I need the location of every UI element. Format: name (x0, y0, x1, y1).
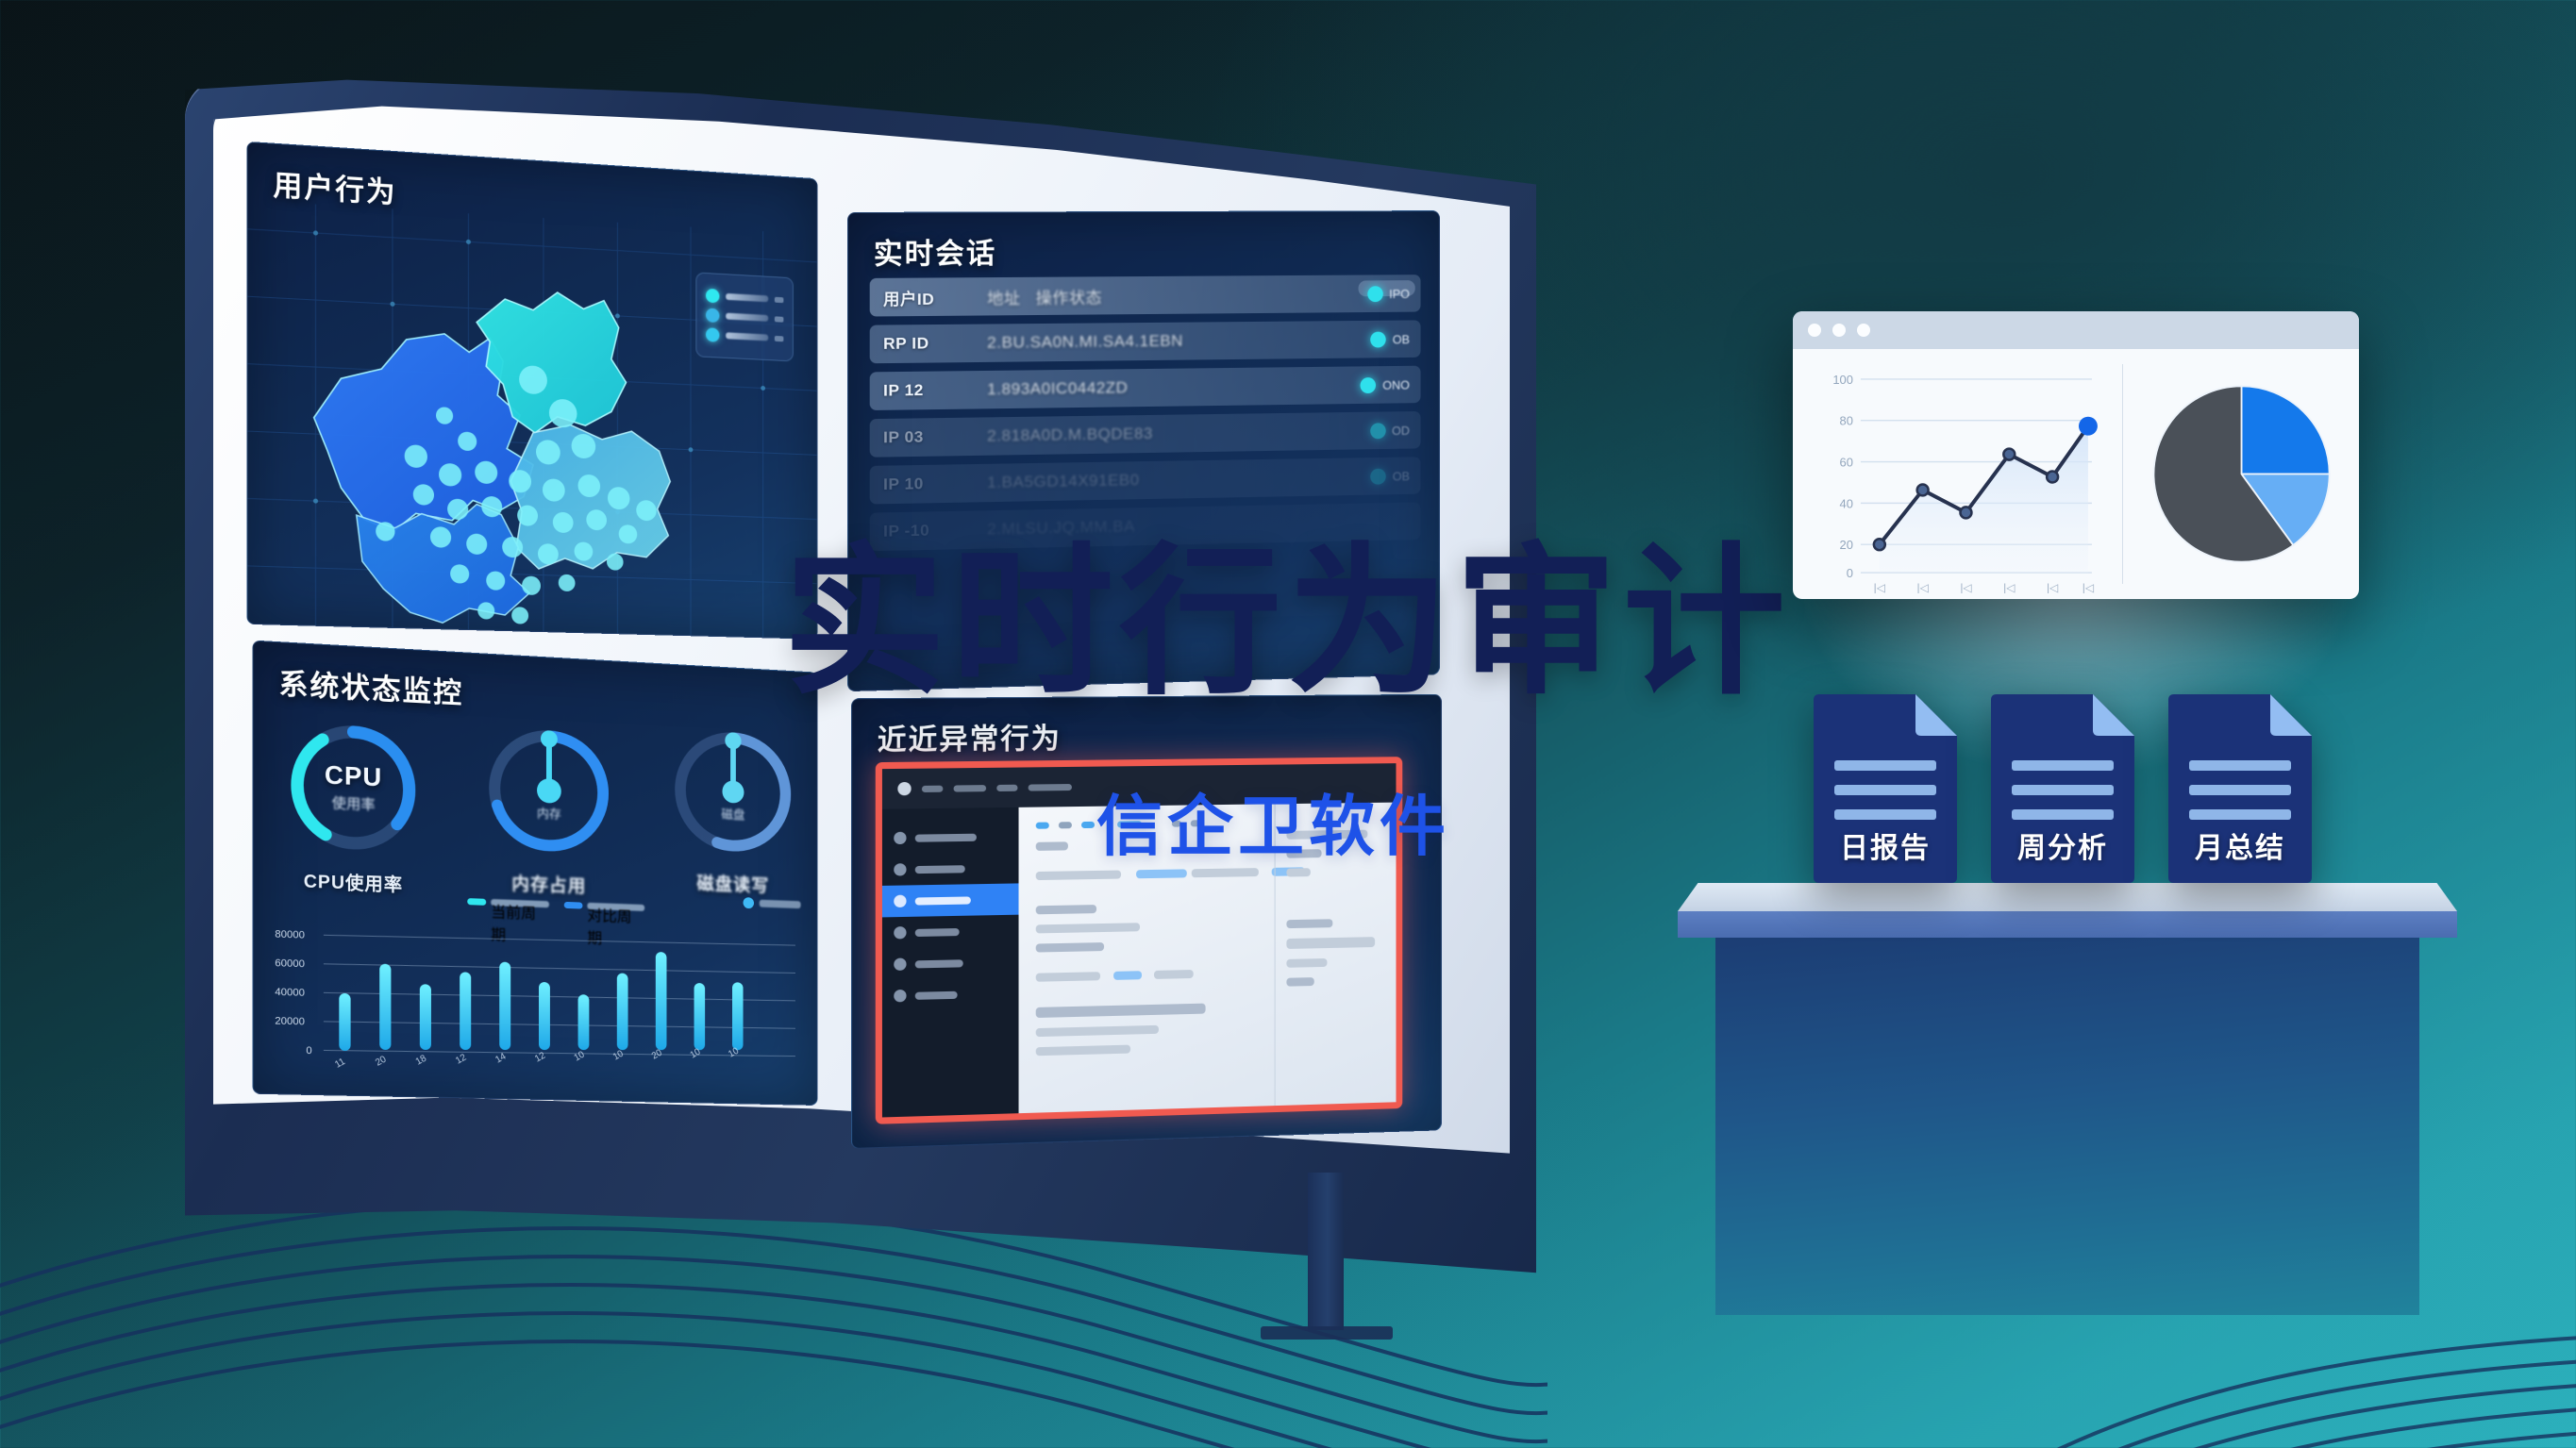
legend-swatch-icon (706, 327, 719, 342)
mock-skeleton-line (1036, 942, 1104, 953)
cell-user-id: IP 12 (883, 380, 972, 400)
mock-sidebar-item[interactable] (882, 977, 1019, 1012)
mock-sidebar-icon (894, 926, 906, 939)
report-card-monthly[interactable]: 月总结 (2168, 694, 2312, 883)
window-minimize-icon[interactable] (1832, 324, 1846, 337)
y-tick-label: 0 (306, 1045, 311, 1057)
traffic-bar-chart[interactable]: 80000 60000 40000 20000 0 (271, 925, 800, 1091)
table-row[interactable]: IP 10 1.BA5GD14X91EB0 OB (870, 457, 1421, 504)
legend-item[interactable] (706, 327, 783, 345)
legend-item[interactable] (706, 308, 783, 326)
x-tick-label: 10 (611, 1048, 626, 1062)
mock-sidebar-label (915, 865, 965, 874)
panel-anomaly-behavior[interactable]: 近近异常行为 (851, 694, 1442, 1149)
gauge-disk-inner-label: 磁盘 (721, 804, 744, 823)
legend-label (726, 332, 768, 341)
legend-label: 当前周期 (491, 899, 549, 907)
window-body: 100 80 60 40 20 0 |◁ (1793, 349, 2359, 599)
mock-titlebar-item (996, 784, 1017, 791)
mock-toolbar-item (1036, 823, 1049, 829)
legend-label (726, 313, 768, 322)
legend-label: 对比周期 (587, 903, 644, 911)
gauge-cpu-caption: CPU使用率 (283, 866, 424, 897)
mock-sidebar-icon (894, 957, 906, 970)
mock-skeleton-line (1286, 868, 1310, 876)
x-tick-label: |◁ (2003, 581, 2016, 593)
mock-skeleton-line (1036, 905, 1096, 914)
mock-skeleton-line (1036, 1025, 1159, 1037)
y-tick-label: 40 (1840, 496, 1853, 510)
window-close-icon[interactable] (1808, 324, 1821, 337)
legend-swatch-icon (706, 308, 719, 324)
legend-swatch-icon (706, 289, 719, 304)
gauge-memory-inner-label: 内存 (537, 803, 561, 822)
desk-pedestal (1715, 938, 2419, 1315)
panel-user-behavior[interactable]: 用户行为 (246, 141, 817, 640)
line-chart-last-point (2079, 417, 2098, 436)
mock-sidebar-icon (894, 990, 906, 1002)
legend-cap-icon (775, 296, 784, 302)
status-label: ONO (1382, 377, 1410, 391)
mock-skeleton-line (1036, 972, 1100, 982)
report-label: 周分析 (1991, 824, 2134, 866)
status-badge: IPO (1367, 286, 1410, 302)
status-label: OB (1393, 332, 1410, 346)
cell-address: 2.818A0D.M.BQDE83 (987, 424, 1153, 446)
pie-slice-primary (2241, 386, 2329, 474)
window-titlebar[interactable] (1793, 311, 2359, 349)
table-row[interactable]: RP ID 2.BU.SA0N.MI.SA4.1EBN OB (870, 320, 1421, 363)
mock-sidebar-item[interactable] (882, 946, 1019, 980)
mock-sidebar-icon (894, 895, 906, 907)
page-title: 实时行为审计 (783, 541, 1821, 704)
mock-sidebar-label (915, 959, 963, 968)
report-label: 月总结 (2168, 824, 2312, 866)
status-dot-icon (1370, 331, 1386, 347)
gauge-disk-caption: 磁盘读写 (666, 868, 798, 898)
gauge-cpu-inner-label: 使用率 (332, 792, 376, 814)
legend-swatch-icon (744, 897, 754, 908)
mock-skeleton-line (1286, 919, 1332, 928)
cell-address: 1.BA5GD14X91EB0 (987, 471, 1139, 492)
mock-sidebar-item-active[interactable] (882, 883, 1019, 917)
status-dot-icon (1361, 377, 1377, 393)
x-tick-label: 10 (573, 1049, 587, 1063)
page-subtitle: 信企卫软件 (1096, 774, 1450, 869)
status-dot-icon (1367, 286, 1383, 302)
legend-label (726, 293, 768, 302)
legend-item[interactable] (706, 289, 783, 307)
bar-series (339, 941, 743, 1060)
cell-address: 1.893A0IC0442ZD (987, 378, 1128, 399)
mock-skeleton-line (1036, 1045, 1130, 1057)
mock-skeleton-line (1154, 970, 1194, 979)
mock-sidebar-label (915, 927, 960, 936)
gauge-memory-caption: 内存占用 (480, 868, 617, 899)
mock-window-dot-icon (897, 782, 911, 795)
panel-title-user-behavior: 用户行为 (273, 161, 396, 211)
x-tick-label: 12 (454, 1052, 468, 1066)
gauge-cpu-name: CPU (325, 760, 382, 792)
mock-titlebar-item (922, 785, 943, 791)
legend-swatch-icon (564, 902, 583, 909)
report-card-daily[interactable]: 日报告 (1814, 694, 1957, 883)
status-label: OB (1393, 469, 1410, 483)
panel-title-anomaly: 近近异常行为 (878, 715, 1062, 758)
barchart-extra-legend[interactable] (744, 897, 801, 910)
mock-sidebar-icon (894, 832, 906, 844)
panel-system-status[interactable]: 系统状态监控 CPU 使用率 CPU使用率 (252, 641, 817, 1106)
gauge-disk-labels: 磁盘 (666, 721, 798, 862)
mock-skeleton-line (1192, 868, 1259, 877)
gauge-memory-labels: 内存 (480, 719, 617, 863)
report-label: 日报告 (1814, 824, 1957, 866)
mock-toolbar-item (1081, 822, 1095, 828)
table-row[interactable]: IP 03 2.818A0D.M.BQDE83 OD (870, 411, 1421, 458)
column-header-action: 操作状态 (1036, 284, 1102, 308)
x-tick-label: |◁ (1917, 581, 1930, 593)
mock-sidebar-item[interactable] (882, 915, 1019, 949)
mock-skeleton-line (1036, 1004, 1206, 1018)
mock-sidebar-label (915, 896, 971, 905)
y-tick-label: 80000 (275, 929, 305, 941)
mock-sidebar-item[interactable] (882, 852, 1019, 886)
y-tick-label: 20000 (275, 1015, 305, 1027)
mock-sidebar[interactable] (882, 807, 1019, 1118)
x-tick-label: |◁ (1960, 581, 1972, 593)
trend-line-chart[interactable]: 100 80 60 40 20 0 |◁ (1798, 358, 2118, 593)
mock-sidebar-label (915, 833, 977, 841)
mock-skeleton-line (1036, 923, 1140, 933)
window-maximize-icon[interactable] (1857, 324, 1870, 337)
mock-skeleton-line (1286, 958, 1327, 968)
status-badge: ONO (1361, 376, 1410, 392)
map-legend[interactable] (695, 272, 793, 361)
table-header-row: 用户ID 地址 操作状态 IPO (870, 275, 1421, 316)
monitor-stand-foot (1261, 1326, 1393, 1340)
cell-address: 2.BU.SA0N.MI.SA4.1EBN (987, 332, 1183, 353)
mock-titlebar-item (1029, 783, 1072, 791)
gauge-cpu-labels: CPU 使用率 (283, 714, 424, 860)
mock-skeleton-highlight (1114, 971, 1143, 980)
status-badge: OB (1370, 331, 1410, 347)
distribution-pie-chart[interactable] (2145, 377, 2338, 571)
cell-user-id: IP 10 (883, 474, 972, 494)
mock-sidebar-item[interactable] (882, 821, 1019, 854)
column-header-user-id: 用户ID (883, 285, 972, 309)
panel-title-system-status: 系统状态监控 (278, 660, 463, 712)
mock-titlebar-item (954, 785, 987, 791)
mock-toolbar-item (1059, 822, 1072, 828)
status-badge: OB (1370, 468, 1410, 485)
mock-skeleton-highlight (1137, 869, 1188, 878)
gauge-disk[interactable]: 磁盘 磁盘读写 (666, 721, 798, 862)
x-tick-label: 14 (493, 1051, 508, 1065)
sessions-table[interactable]: 用户ID 地址 操作状态 IPO RP ID 2.BU.SA0N.MI.SA4.… (870, 275, 1421, 559)
mock-skeleton-line (1286, 937, 1375, 949)
analytics-window[interactable]: 100 80 60 40 20 0 |◁ (1793, 311, 2359, 599)
pie-chart-area[interactable] (2123, 349, 2359, 599)
y-tick-label: 0 (1847, 566, 1853, 580)
legend-cap-icon (775, 335, 784, 341)
legend-label (760, 900, 801, 908)
status-label: IPO (1389, 287, 1410, 301)
mock-sidebar-icon (894, 863, 906, 875)
line-chart-area[interactable]: 100 80 60 40 20 0 |◁ (1793, 349, 2122, 599)
y-tick-label: 60000 (275, 957, 305, 970)
legend-swatch-icon (467, 898, 486, 906)
y-tick-label: 80 (1840, 414, 1853, 428)
report-card-weekly[interactable]: 周分析 (1991, 694, 2134, 883)
x-tick-label: |◁ (2047, 581, 2059, 593)
status-dot-icon (1370, 468, 1386, 484)
cell-user-id: RP ID (883, 334, 972, 354)
gauge-group: CPU 使用率 CPU使用率 内存 (276, 714, 800, 925)
panel-title-realtime-sessions: 实时会话 (874, 230, 996, 273)
y-tick-label: 60 (1840, 456, 1853, 470)
mock-skeleton-line (1286, 977, 1313, 987)
x-tick-label: 11 (333, 1057, 347, 1071)
legend-cap-icon (775, 316, 784, 322)
region-heatmap[interactable] (298, 252, 739, 640)
mock-skeleton-line (1036, 871, 1121, 881)
monitor-stand-post (1308, 1173, 1344, 1330)
desk-surface (1678, 883, 2457, 911)
gauge-cpu[interactable]: CPU 使用率 CPU使用率 (283, 714, 424, 860)
status-badge: OD (1370, 422, 1410, 438)
x-tick-label: 18 (414, 1053, 429, 1067)
x-tick-label: 12 (533, 1050, 547, 1064)
y-tick-label: 20 (1840, 538, 1853, 552)
status-dot-icon (1370, 423, 1386, 439)
status-label: OD (1392, 423, 1410, 437)
x-tick-label: |◁ (2083, 581, 2095, 593)
mock-skeleton-line (1036, 841, 1068, 851)
gauge-memory[interactable]: 内存 内存占用 (480, 719, 617, 863)
desk-edge (1678, 911, 2457, 938)
cell-user-id: IP 03 (883, 427, 972, 448)
mock-sidebar-label (915, 990, 958, 999)
y-tick-label: 100 (1832, 373, 1853, 387)
y-tick-label: 40000 (275, 987, 305, 999)
table-row[interactable]: IP 12 1.893A0IC0442ZD ONO (870, 366, 1421, 410)
column-header-address: 地址 (987, 284, 1020, 308)
x-tick-label: |◁ (1874, 581, 1886, 593)
x-tick-label: 20 (374, 1054, 389, 1068)
